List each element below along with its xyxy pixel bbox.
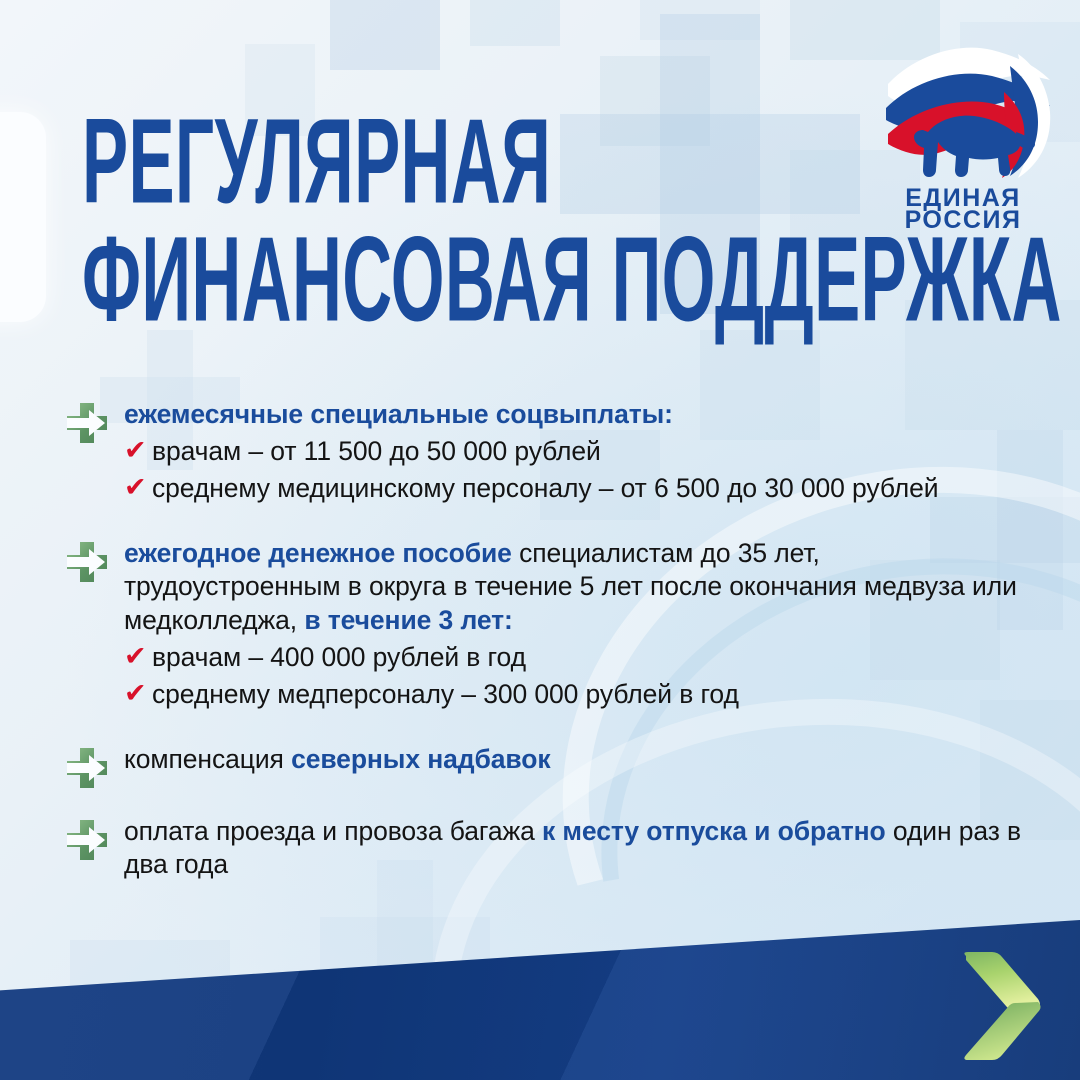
green-cross-arrow-icon [64, 745, 118, 799]
benefit-item: оплата проезда и провоза багажа к месту … [64, 815, 1024, 882]
title-line-2: ФИНАНСОВАЯ ПОДДЕРЖКА [82, 225, 773, 336]
benefits-list: ежемесячные специальные соцвыплаты:✔врач… [64, 398, 1024, 898]
footer-band-facets [0, 920, 1080, 1080]
check-list-item: ✔среднему медицинскому персоналу – от 6 … [124, 472, 1024, 505]
benefit-text: ежемесячные специальные соцвыплаты:✔врач… [118, 398, 1024, 521]
benefit-lead: оплата проезда и провоза багажа к месту … [124, 815, 1024, 882]
green-cross-arrow-icon [64, 539, 118, 593]
benefit-lead-highlight: к месту отпуска и обратно [542, 816, 886, 846]
edinaya-rossiya-logo: ЕДИНАЯ РОССИЯ [868, 36, 1058, 231]
benefit-item: ежемесячные специальные соцвыплаты:✔врач… [64, 398, 1024, 521]
benefit-text: оплата проезда и провоза багажа к месту … [118, 815, 1024, 882]
check-icon: ✔ [124, 472, 152, 502]
benefit-lead: компенсация северных надбавок [124, 743, 1024, 776]
check-label: среднему медперсоналу – 300 000 рублей в… [152, 678, 1024, 711]
benefit-lead-text: оплата проезда и провоза багажа [124, 816, 542, 846]
logo-line-2: РОССИЯ [905, 206, 1022, 231]
benefit-item: ежегодное денежное пособие специалистам … [64, 537, 1024, 727]
benefit-lead-highlight: ежегодное денежное пособие [124, 538, 519, 568]
check-icon: ✔ [124, 435, 152, 465]
benefit-lead-text: компенсация [124, 744, 291, 774]
check-list: ✔врачам – от 11 500 до 50 000 рублей✔сре… [124, 435, 1024, 505]
check-label: врачам – от 11 500 до 50 000 рублей [152, 435, 1024, 468]
check-label: среднему медицинскому персоналу – от 6 5… [152, 472, 1024, 505]
chevron-right-icon [952, 950, 1044, 1062]
bg-block [330, 0, 440, 70]
benefit-item: компенсация северных надбавок [64, 743, 1024, 799]
poster-root: РЕГУЛЯРНАЯ ФИНАНСОВАЯ ПОДДЕРЖКА ЕДИНАЯ Р… [0, 0, 1080, 1080]
green-cross-arrow-icon [64, 817, 118, 871]
benefit-text: компенсация северных надбавок [118, 743, 1024, 776]
benefit-lead: ежемесячные специальные соцвыплаты: [124, 398, 1024, 431]
green-cross-arrow-icon [64, 400, 118, 454]
check-icon: ✔ [124, 678, 152, 708]
benefit-lead-highlight: ежемесячные специальные соцвыплаты: [124, 399, 673, 429]
check-list-item: ✔среднему медперсоналу – 300 000 рублей … [124, 678, 1024, 711]
left-edge-tab [0, 112, 46, 322]
benefit-text: ежегодное денежное пособие специалистам … [118, 537, 1024, 727]
bg-block [470, 0, 560, 46]
title-line-1: РЕГУЛЯРНАЯ [82, 107, 773, 218]
check-label: врачам – 400 000 рублей в год [152, 641, 1024, 674]
check-icon: ✔ [124, 641, 152, 671]
check-list-item: ✔врачам – от 11 500 до 50 000 рублей [124, 435, 1024, 468]
bg-block [640, 0, 760, 40]
benefit-lead-highlight: северных надбавок [291, 744, 550, 774]
check-list-item: ✔врачам – 400 000 рублей в год [124, 641, 1024, 674]
check-list: ✔врачам – 400 000 рублей в год✔среднему … [124, 641, 1024, 711]
benefit-lead: ежегодное денежное пособие специалистам … [124, 537, 1024, 637]
benefit-lead-highlight: в течение 3 лет: [304, 605, 512, 635]
